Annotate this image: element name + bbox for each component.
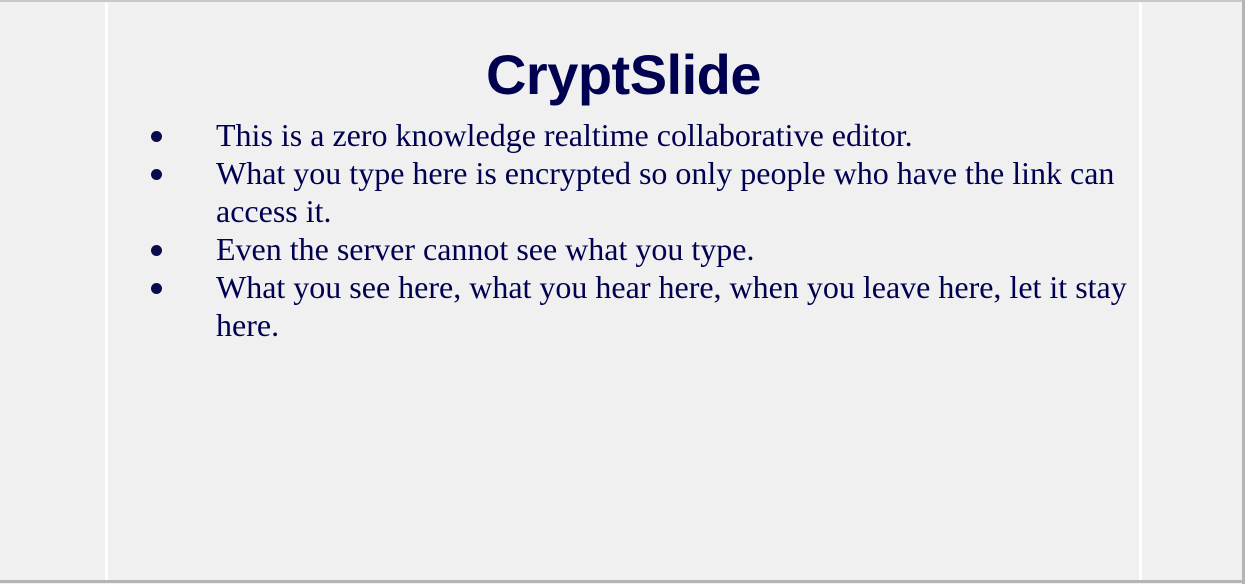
bullet-dot-icon (151, 131, 162, 142)
bullet-dot-icon (151, 245, 162, 256)
bullet-list-item[interactable]: This is a zero knowledge realtime collab… (144, 116, 1134, 154)
bullet-list-item[interactable]: What you see here, what you hear here, w… (144, 268, 1134, 344)
slide-stage: CryptSlide This is a zero knowledge real… (0, 0, 1245, 584)
bullet-dot-icon (151, 169, 162, 180)
bullet-dot-icon (151, 283, 162, 294)
bullet-item-text: What you see here, what you hear here, w… (216, 268, 1134, 344)
stage-top-rule (0, 0, 1245, 2)
slide-title[interactable]: CryptSlide (108, 44, 1139, 106)
bullet-item-text: Even the server cannot see what you type… (216, 230, 1134, 268)
slide-body[interactable]: This is a zero knowledge realtime collab… (144, 116, 1134, 344)
bullet-list-item[interactable]: What you type here is encrypted so only … (144, 154, 1134, 230)
bullet-item-text: What you type here is encrypted so only … (216, 154, 1134, 230)
bullet-list: This is a zero knowledge realtime collab… (144, 116, 1134, 344)
bullet-list-item[interactable]: Even the server cannot see what you type… (144, 230, 1134, 268)
stage-bottom-rule (0, 580, 1245, 583)
bullet-item-text: This is a zero knowledge realtime collab… (216, 116, 1134, 154)
slide-canvas[interactable]: CryptSlide This is a zero knowledge real… (105, 3, 1142, 581)
